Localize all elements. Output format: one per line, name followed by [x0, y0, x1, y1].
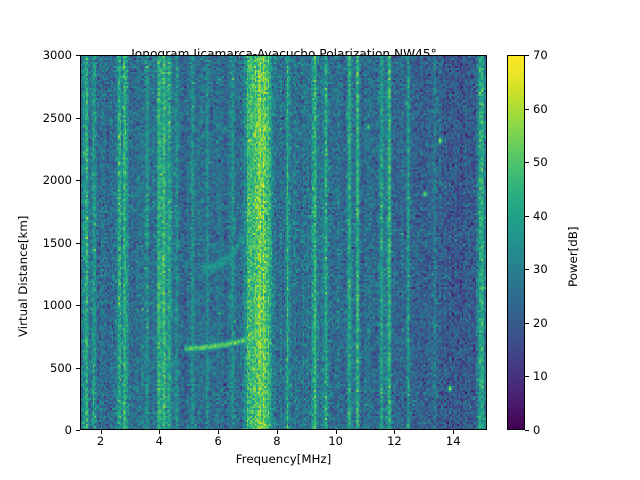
x-axis-tick-label: 6 [198, 434, 238, 448]
colorbar-tick-mark [525, 55, 529, 56]
colorbar-tick-label: 60 [533, 102, 548, 116]
x-axis-tick-label: 4 [139, 434, 179, 448]
ionogram-heatmap [81, 56, 486, 429]
colorbar-tick-label: 0 [533, 423, 540, 437]
y-axis-tick-mark [76, 305, 80, 306]
x-axis-tick-label: 8 [257, 434, 297, 448]
y-axis-label: Virtual Distance[km] [16, 216, 30, 337]
x-axis-tick-label: 14 [433, 434, 473, 448]
colorbar-axes [507, 55, 525, 430]
colorbar-tick-label: 30 [533, 262, 548, 276]
ionogram-figure: Ionogram Jicamarca-Ayacucho Polarization… [0, 0, 640, 480]
y-axis-tick-label: 500 [26, 361, 72, 375]
colorbar-tick-mark [525, 430, 529, 431]
colorbar-tick-mark [525, 109, 529, 110]
colorbar-label: Power[dB] [566, 227, 580, 287]
y-axis-tick-label: 2000 [26, 173, 72, 187]
colorbar-gradient [508, 56, 524, 429]
colorbar-tick-label: 10 [533, 369, 548, 383]
colorbar-tick-label: 50 [533, 155, 548, 169]
x-axis-tick-mark [453, 430, 454, 434]
x-axis-tick-mark [336, 430, 337, 434]
y-axis-tick-mark [76, 118, 80, 119]
y-axis-tick-mark [76, 430, 80, 431]
x-axis-tick-mark [218, 430, 219, 434]
colorbar-tick-label: 40 [533, 209, 548, 223]
x-axis-tick-mark [394, 430, 395, 434]
y-axis-tick-mark [76, 180, 80, 181]
colorbar-tick-mark [525, 162, 529, 163]
colorbar-tick-mark [525, 216, 529, 217]
x-axis-tick-mark [277, 430, 278, 434]
colorbar-tick-label: 70 [533, 48, 548, 62]
colorbar-tick-mark [525, 269, 529, 270]
colorbar-tick-mark [525, 323, 529, 324]
x-axis-tick-label: 10 [316, 434, 356, 448]
y-axis-tick-label: 1500 [26, 236, 72, 250]
y-axis-tick-label: 1000 [26, 298, 72, 312]
y-axis-tick-mark [76, 243, 80, 244]
x-axis-label: Frequency[MHz] [80, 452, 487, 466]
colorbar-tick-mark [525, 376, 529, 377]
x-axis-tick-mark [159, 430, 160, 434]
y-axis-tick-mark [76, 368, 80, 369]
y-axis-tick-mark [76, 55, 80, 56]
heatmap-axes [80, 55, 487, 430]
y-axis-tick-label: 0 [26, 423, 72, 437]
x-axis-tick-mark [101, 430, 102, 434]
y-axis-tick-label: 3000 [26, 48, 72, 62]
colorbar-tick-label: 20 [533, 316, 548, 330]
y-axis-tick-label: 2500 [26, 111, 72, 125]
x-axis-tick-label: 12 [374, 434, 414, 448]
x-axis-tick-label: 2 [81, 434, 121, 448]
